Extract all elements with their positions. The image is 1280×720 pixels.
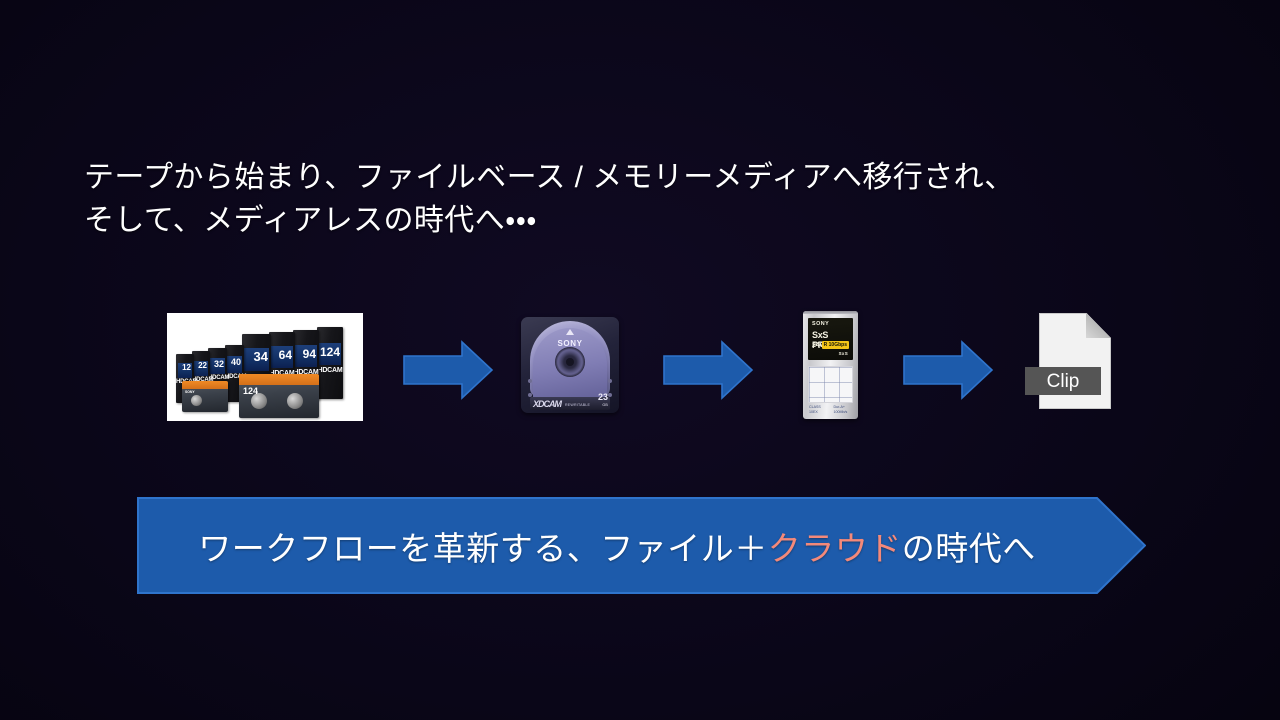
cassette-number: 34 (254, 350, 268, 363)
banner-text-accent: クラウド (768, 522, 902, 570)
card-brand: SONY (812, 321, 829, 327)
card-footer-left: CLASS 10EX (809, 405, 828, 415)
banner-text-before: ワークフローを革新する、ファイル＋ (198, 522, 768, 570)
card-interface: SxS (839, 351, 848, 356)
disc-pin-1 (528, 379, 532, 383)
card-speed-badge: R 10Gbps (822, 341, 849, 349)
slide-canvas: テープから始まり、ファイルベース / メモリーメディアへ移行され、 そして、メデ… (0, 0, 1280, 720)
file-corner-fold-icon (1086, 313, 1111, 338)
card-footer-left-title: CLASS (809, 405, 821, 409)
card-label: SONY SxS PROX 240GB R 10Gbps SxS (808, 318, 853, 360)
mini-cassette-front-left: SONY (182, 381, 228, 412)
media-evolution-flow: 124 HDCAM 94 HDCAM 64 HDCAM SONY 34 (0, 0, 1280, 720)
mini-cassette-band (239, 374, 319, 385)
cassette-number: 40 (231, 358, 241, 367)
card-body-grid (808, 366, 853, 403)
flow-arrow-3 (904, 342, 992, 398)
bottom-banner: ワークフローを革新する、ファイル＋クラウドの時代へ (137, 497, 1146, 594)
banner-text: ワークフローを革新する、ファイル＋クラウドの時代へ (137, 497, 1097, 594)
cassette-number: 64 (279, 349, 292, 361)
disc-capacity: 23GB (598, 393, 608, 409)
cassette-number: 124 (320, 346, 340, 358)
mini-cassette-hub (191, 395, 202, 406)
flow-arrow-1 (404, 342, 492, 398)
mini-cassette-brand: SONY (185, 391, 195, 394)
cassette-number: 94 (303, 348, 316, 360)
media-less-clip-file: Clip (1039, 313, 1111, 409)
cassette-format: HDCAM (317, 367, 343, 374)
mini-cassette-front-right: 124 (239, 374, 319, 418)
cassette-number: 32 (214, 360, 224, 369)
card-connector-edge (803, 311, 858, 314)
card-footer-right-title: Dur-A+ (834, 405, 845, 409)
disc-format: XDCAM (533, 399, 561, 409)
flow-arrow-2 (664, 342, 752, 398)
tape-stack: 124 HDCAM 94 HDCAM 64 HDCAM SONY 34 (167, 313, 363, 421)
disc-pin-4 (608, 393, 612, 397)
mini-cassette-hub-2 (287, 393, 303, 409)
cassette-number: 12 (182, 364, 191, 372)
disc-hub (555, 347, 585, 377)
xdcam-professional-disc: SONY XDCAM REWRITABLE 23GB (521, 317, 619, 413)
card-footer-left-value: 10EX (809, 410, 818, 414)
mini-cassette-band (182, 381, 228, 389)
disc-direction-triangle-icon (566, 329, 574, 335)
disc-capacity-unit: GB (598, 401, 608, 409)
card-footer-specs: CLASS 10EX Dur-A+ 100Mb/s (809, 405, 852, 415)
banner-text-after: の時代へ (902, 522, 1036, 570)
tape-cassettes-photo: 124 HDCAM 94 HDCAM 64 HDCAM SONY 34 (167, 313, 363, 421)
disc-pin-2 (528, 393, 532, 397)
disc-pin-3 (608, 379, 612, 383)
sxs-pro-x-memory-card: SONY SxS PROX 240GB R 10Gbps SxS CLASS 1… (803, 311, 858, 419)
clip-label: Clip (1025, 367, 1101, 395)
disc-rewritable-text: REWRITABLE (565, 403, 590, 407)
cassette-number: 22 (198, 362, 207, 370)
cassette-large-124: 124 HDCAM (317, 327, 343, 399)
mini-cassette-number: 124 (243, 387, 258, 396)
card-footer-right: Dur-A+ 100Mb/s (834, 405, 853, 415)
card-footer-right-value: 100Mb/s (834, 410, 848, 414)
